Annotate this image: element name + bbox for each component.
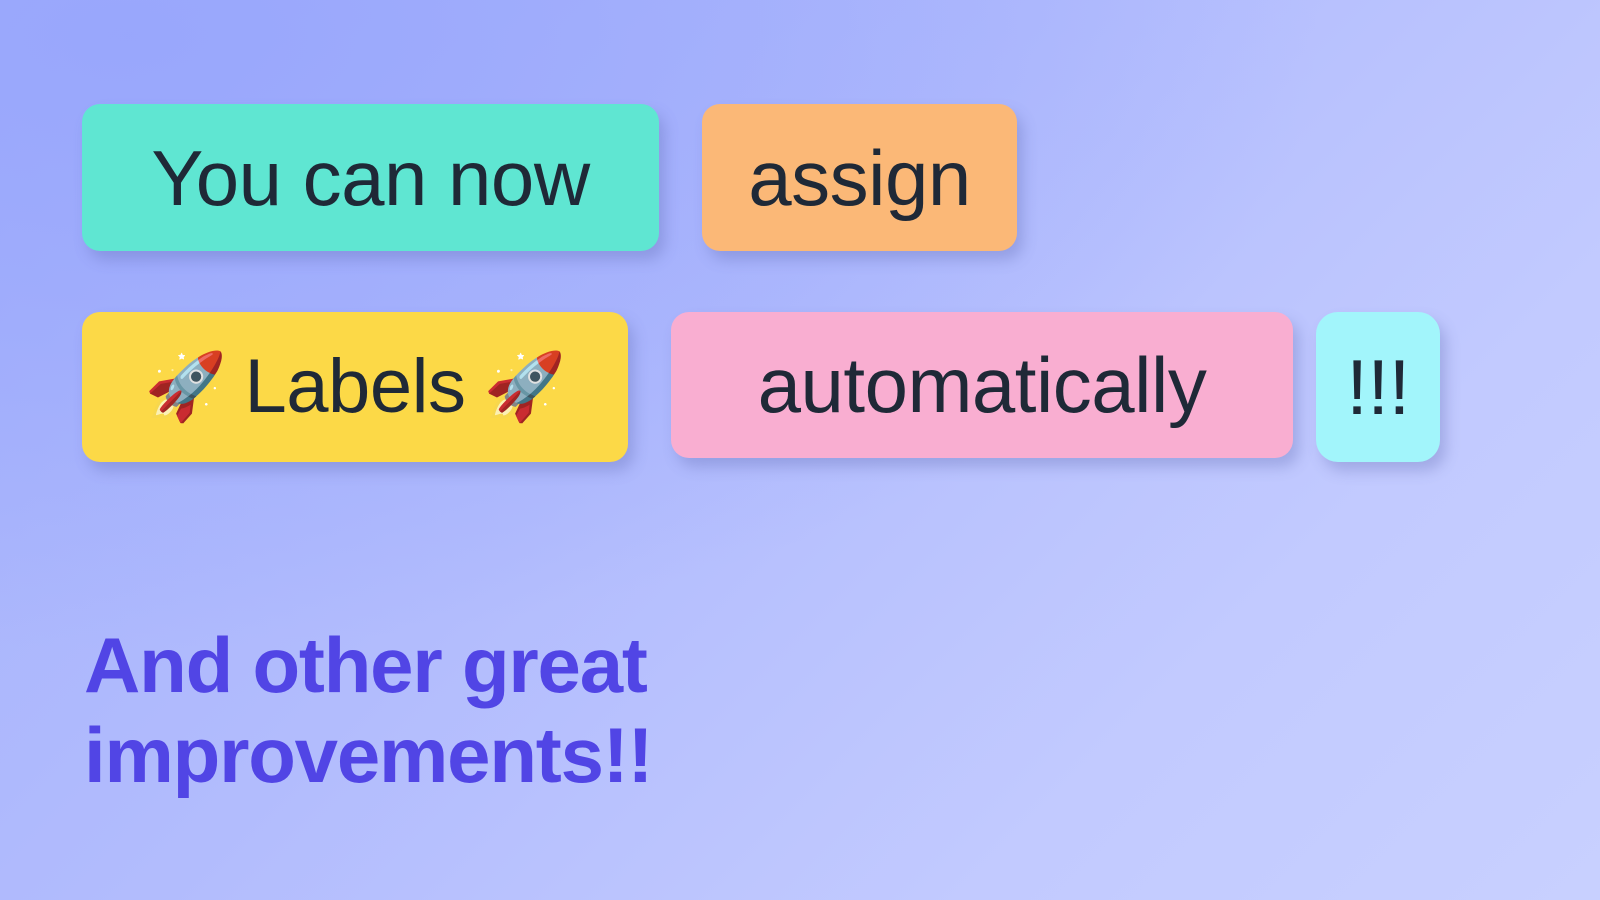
chip-assign-label: assign: [748, 139, 970, 217]
headline-line-2: improvements!!: [84, 710, 984, 800]
headline: And other great improvements!!: [84, 620, 984, 801]
chip-assign: assign: [702, 104, 1017, 251]
chip-exclamation-marks: !!!: [1316, 312, 1440, 462]
chip-automatically: automatically: [671, 312, 1293, 458]
chip-automatically-label: automatically: [758, 346, 1207, 424]
rocket-emoji-right: 🚀: [483, 354, 565, 420]
headline-line-1: And other great: [84, 620, 984, 710]
chip-you-can-now-label: You can now: [151, 139, 589, 217]
chip-labels-label: Labels: [245, 349, 466, 425]
rocket-emoji-left: 🚀: [145, 354, 227, 420]
chip-labels: 🚀 Labels 🚀: [82, 312, 628, 462]
chip-you-can-now: You can now: [82, 104, 659, 251]
promo-banner: You can now assign 🚀 Labels 🚀 automatica…: [0, 0, 1600, 900]
chip-exclamation-marks-label: !!!: [1346, 348, 1410, 426]
